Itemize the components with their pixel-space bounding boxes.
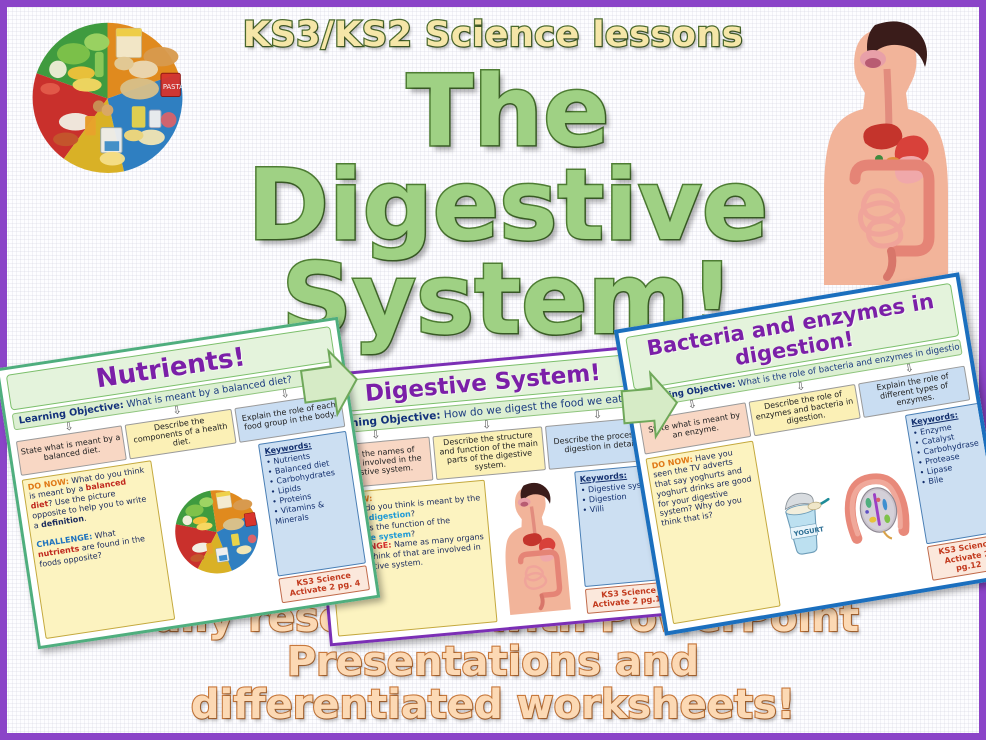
keywords-box: Keywords: Nutrients Balanced diet Carboh… — [258, 430, 366, 576]
slide-picture — [154, 444, 279, 619]
do-now-box: DO NOW: What do you think is meant by a … — [22, 460, 176, 639]
objective-describe: Describe the structure and function of t… — [433, 426, 546, 480]
poster-stage: PASTA — [7, 7, 979, 733]
page-title: The Digestive System! — [157, 65, 859, 347]
do-now-text-c: . — [83, 513, 87, 522]
keywords-list: Enzyme Catalyst Carbohydrase Protease Li… — [912, 418, 986, 488]
kicker-title: KS3/KS2 Science lessons — [7, 15, 979, 55]
keywords-list: Nutrients Balanced diet Carbohydrates Li… — [266, 446, 354, 527]
slide-body: DO NOW: 1. What do you think is meant by… — [325, 464, 671, 637]
slide-card-bacteria-enzymes[interactable]: Bacteria and enzymes in digestion! Learn… — [614, 272, 986, 636]
poster-page: PASTA — [0, 0, 986, 740]
do-now-q2-b: ? — [410, 529, 415, 538]
eatwell-plate-food-wheel-icon — [154, 444, 279, 619]
slide-card-nutrients[interactable]: Nutrients! Learning Objective: What is m… — [0, 317, 380, 650]
do-now-q1-b: ? — [410, 509, 415, 518]
slide-picture — [488, 471, 584, 621]
human-torso-digestive-system-icon — [488, 471, 584, 621]
